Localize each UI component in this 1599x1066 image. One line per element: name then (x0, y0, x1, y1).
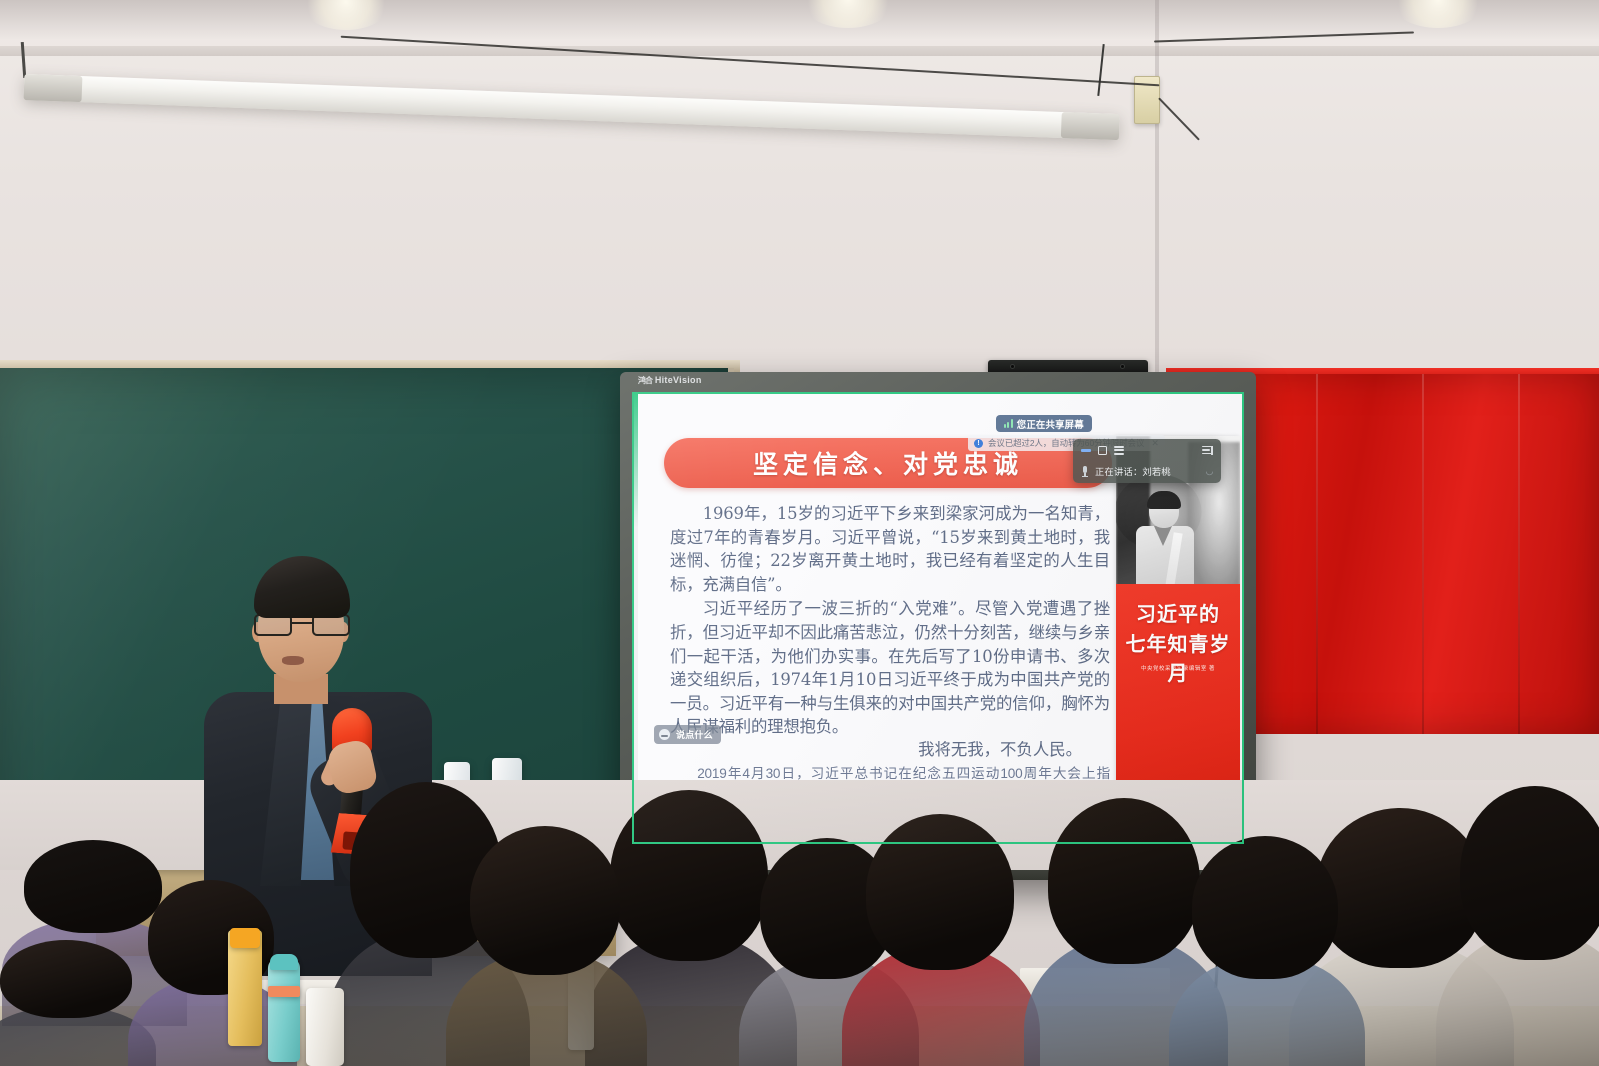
slide-quote: 我将无我，不负人民。 (670, 738, 1110, 762)
expand-panel-icon[interactable] (1202, 446, 1213, 455)
banner-fold (1518, 374, 1520, 734)
water-bottle (268, 958, 300, 1062)
active-speaker-label: 正在讲话：刘若桃 (1095, 464, 1171, 478)
display-brand-bar: 鸿合 HiteVision (620, 372, 1256, 390)
bottle-strap (268, 986, 300, 997)
window-icon[interactable] (1098, 446, 1107, 455)
student-head (1048, 798, 1200, 964)
signal-bars-icon (1004, 419, 1013, 428)
brand-logo-en: HiteVision (655, 375, 702, 385)
display-brand-label: 鸿合 HiteVision (638, 375, 702, 386)
student-head-10 (1192, 836, 1338, 1066)
bottle-cap (230, 928, 260, 948)
banner-fold (1316, 374, 1318, 734)
microphone-icon (1082, 466, 1088, 477)
wall-seam (1155, 0, 1159, 400)
thermos-bottle (306, 988, 344, 1066)
student-head (1316, 808, 1484, 968)
student-head-2 (0, 940, 132, 1066)
brand-logo-cn: 鸿合 (638, 376, 652, 385)
bottle-cap (270, 954, 298, 970)
student-head-8 (866, 814, 1014, 1066)
student-head (0, 940, 132, 1018)
participants-list-icon[interactable] (1114, 446, 1124, 455)
light-end-cap (1061, 112, 1120, 140)
say-something-label: 说点什么 (676, 728, 713, 741)
panel-toolbar (1073, 439, 1221, 461)
student-head (1460, 786, 1599, 960)
student-head (470, 826, 620, 975)
camera-lens-icon (1120, 364, 1125, 369)
info-icon: ! (974, 439, 983, 448)
student-head (24, 840, 162, 933)
photo-hair (1147, 491, 1181, 509)
student-head-5 (470, 826, 620, 1066)
audio-waveform-icon: ◟◞ (1206, 466, 1213, 477)
chat-bubble-icon (659, 729, 670, 740)
display-screen[interactable]: 坚定信念、对党忠诚 1969年，15岁的习近平下乡来到梁家河成为一名知青，度过7… (632, 392, 1244, 844)
presenter-hair (254, 556, 350, 618)
ceiling-trim (0, 46, 1599, 56)
camera-lens-icon (1010, 364, 1015, 369)
banner-fold (1422, 374, 1424, 734)
slide-body: 1969年，15岁的习近平下乡来到梁家河成为一名知青，度过7年的青春岁月。习近平… (670, 502, 1110, 822)
back-wall (0, 0, 1599, 400)
powerpoint-slide: 坚定信念、对党忠诚 1969年，15岁的习近平下乡来到梁家河成为一名知青，度过7… (632, 392, 1244, 844)
book-author-note: 中央党校采访实录编辑室 著 (1116, 664, 1240, 672)
lecture-hall-screenshot: 鸿合 HiteVision 坚定信念、对党忠诚 1969年，15岁的习近平下乡来… (0, 0, 1599, 1066)
book-title-line-1: 习近平的 (1116, 598, 1240, 627)
presenter-mouth (282, 656, 304, 665)
active-speaker-row: 正在讲话：刘若桃 ◟◞ (1073, 461, 1221, 483)
book-title-line-2: 七年知青岁月 (1116, 628, 1240, 686)
screen-sharing-label: 您正在共享屏幕 (1017, 417, 1084, 431)
slide-paragraph-1: 1969年，15岁的习近平下乡来到梁家河成为一名知青，度过7年的青春岁月。习近平… (670, 502, 1110, 596)
say-something-widget[interactable]: 说点什么 (654, 725, 721, 744)
screen-sharing-badge: 您正在共享屏幕 (996, 415, 1092, 432)
student-head (1192, 836, 1338, 979)
student-head-12 (1460, 786, 1599, 1066)
light-end-cap (24, 74, 83, 102)
student-head (610, 790, 768, 961)
slide-paragraph-2: 习近平经历了一波三折的“入党难”。尽管入党遭遇了挫折，但习近平却不因此痛苦悲泣，… (670, 597, 1110, 739)
meeting-floating-panel[interactable]: 正在讲话：刘若桃 ◟◞ (1073, 439, 1221, 483)
glasses-bridge (292, 622, 312, 624)
panel-icon-group (1081, 446, 1124, 455)
minimize-icon[interactable] (1081, 449, 1091, 452)
student-head (866, 814, 1014, 970)
slide-left-accent (632, 392, 638, 844)
